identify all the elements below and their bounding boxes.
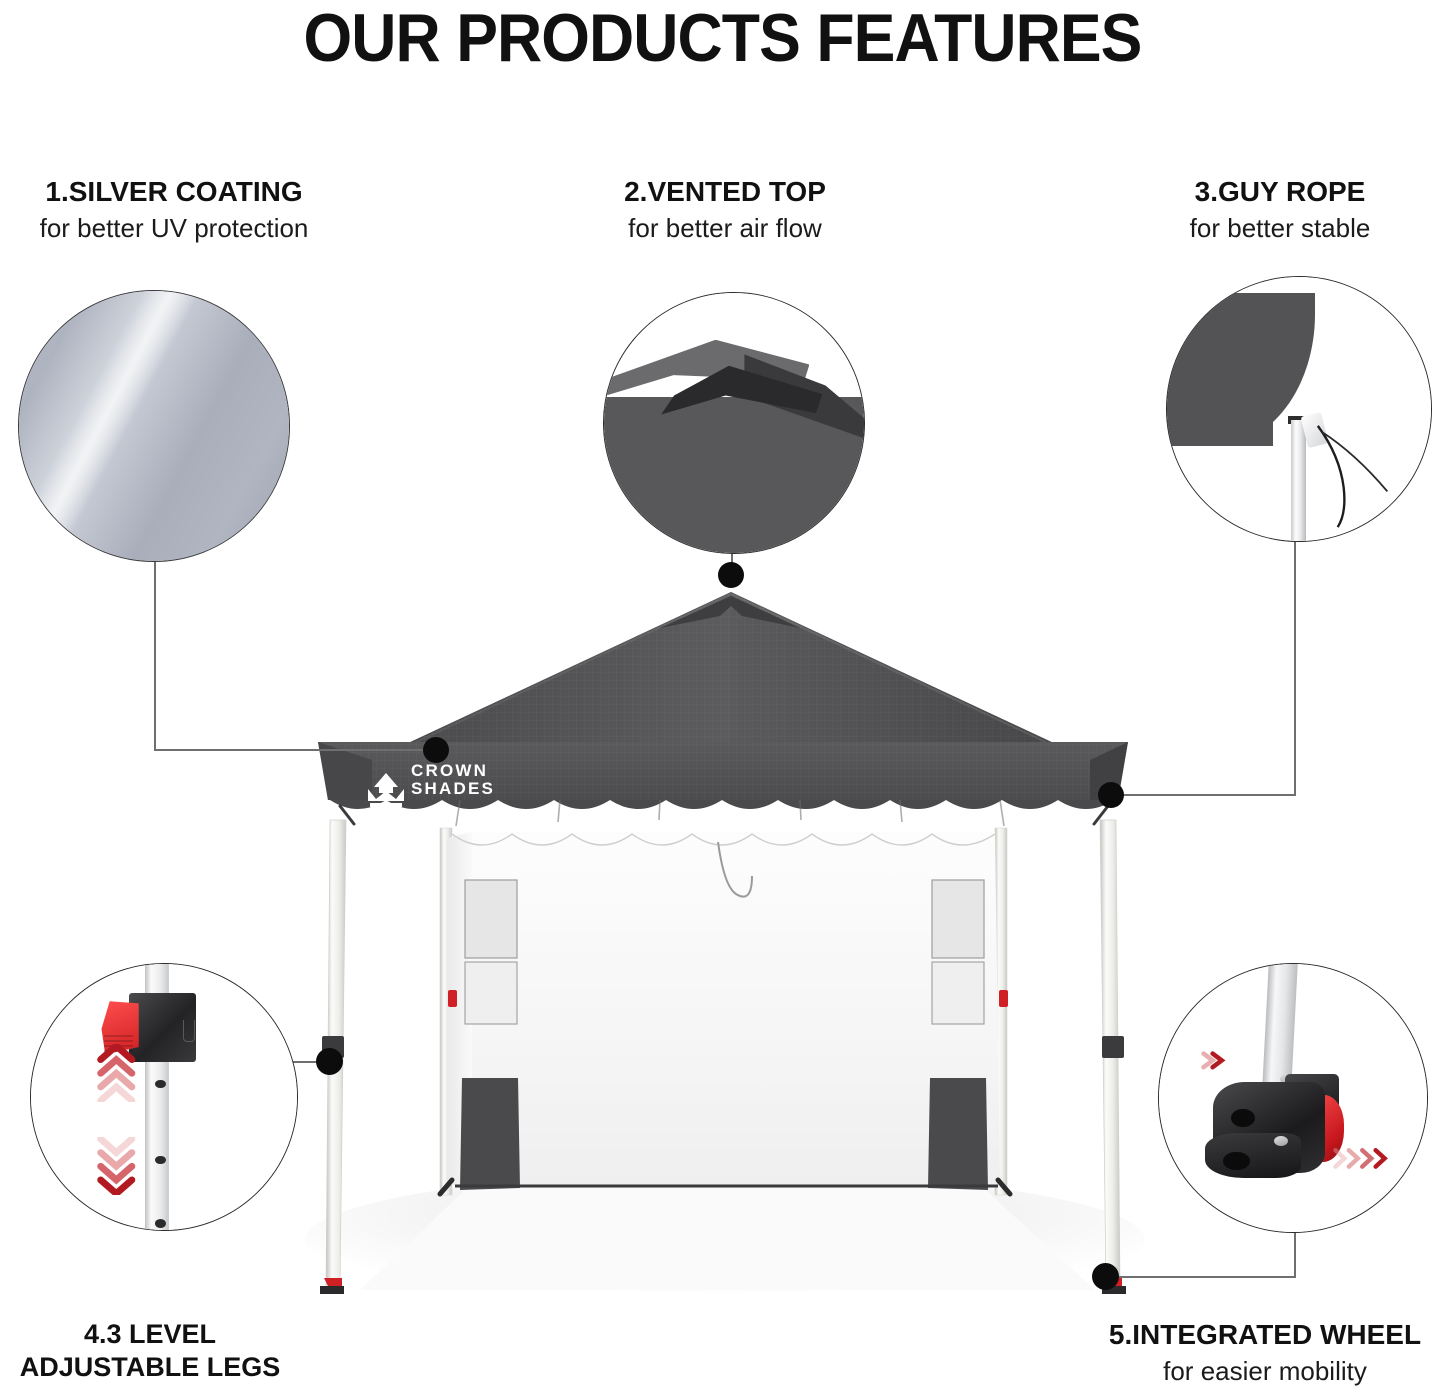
brand-wordmark: CROWN SHADES	[411, 762, 495, 799]
connector-line-3-horizontal	[1110, 794, 1296, 796]
brand-line-1: CROWN	[411, 762, 495, 780]
feature-caption-guy-rope: 3.GUY ROPE for better stable	[1120, 175, 1440, 245]
callout-circle-silver-coating	[18, 290, 290, 562]
feature-subheading-silver-coating: for better UV protection	[0, 213, 354, 245]
connector-dot-adjustable-legs	[316, 1048, 343, 1075]
infographic-canvas: OUR PRODUCTS FEATURES	[0, 0, 1445, 1399]
connector-line-5-horizontal	[1118, 1276, 1296, 1278]
callout-circle-vented-top	[603, 292, 865, 554]
leg-adjust-hole-2	[155, 1156, 166, 1165]
feature-subheading-vented-top: for better air flow	[575, 213, 875, 245]
feature-caption-vented-top: 2.VENTED TOP for better air flow	[575, 175, 875, 245]
connector-line-1-vertical	[154, 556, 156, 750]
feature-heading-vented-top: 2.VENTED TOP	[575, 175, 875, 209]
brand-line-2: SHADES	[411, 780, 495, 798]
integrated-wheel-closeup	[1159, 964, 1427, 1232]
guy-rope-closeup	[1167, 277, 1431, 541]
wheel-arrow-left-icon	[1199, 1047, 1234, 1074]
feature-heading-adjustable-legs-line2: ADJUSTABLE LEGS	[0, 1351, 320, 1384]
feature-subheading-integrated-wheel: for easier mobility	[1090, 1356, 1440, 1388]
connector-line-1-horizontal	[154, 749, 436, 751]
leg-arrow-down-icon	[95, 1137, 138, 1196]
callout-circle-integrated-wheel	[1158, 963, 1428, 1233]
leg-housing-slot	[183, 1020, 196, 1042]
feature-heading-guy-rope: 3.GUY ROPE	[1120, 175, 1440, 209]
connector-line-3-vertical	[1294, 540, 1296, 795]
vented-top-closeup	[604, 293, 864, 553]
feature-caption-silver-coating: 1.SILVER COATING for better UV protectio…	[0, 175, 354, 245]
adjustable-leg-closeup	[31, 964, 297, 1230]
wheel-arrow-right-icon	[1331, 1141, 1398, 1176]
callout-circle-adjustable-legs	[30, 963, 298, 1231]
connector-dot-integrated-wheel	[1092, 1263, 1119, 1290]
feature-caption-adjustable-legs: 4.3 LEVEL ADJUSTABLE LEGS	[0, 1318, 320, 1384]
silver-coating-swatch	[19, 291, 289, 561]
feature-heading-integrated-wheel: 5.INTEGRATED WHEEL	[1090, 1318, 1440, 1352]
feature-caption-integrated-wheel: 5.INTEGRATED WHEEL for easier mobility	[1090, 1318, 1440, 1388]
wheel-leg-pole	[1262, 963, 1298, 1088]
guy-rope-cord	[1167, 277, 1431, 541]
connector-dot-guy-rope	[1098, 782, 1124, 808]
leg-arrow-up-icon	[95, 1044, 138, 1103]
connector-dot-silver-coating	[423, 737, 449, 763]
connector-line-5-vertical	[1294, 1231, 1296, 1277]
callout-circle-guy-rope	[1166, 276, 1432, 542]
connector-dot-vented-top	[718, 562, 744, 588]
feature-subheading-guy-rope: for better stable	[1120, 213, 1440, 245]
leg-adjust-hole-3	[155, 1219, 166, 1228]
wheel-plate-screw	[1274, 1136, 1288, 1146]
feature-heading-adjustable-legs-line1: 4.3 LEVEL	[0, 1318, 320, 1351]
feature-heading-silver-coating: 1.SILVER COATING	[0, 175, 354, 209]
